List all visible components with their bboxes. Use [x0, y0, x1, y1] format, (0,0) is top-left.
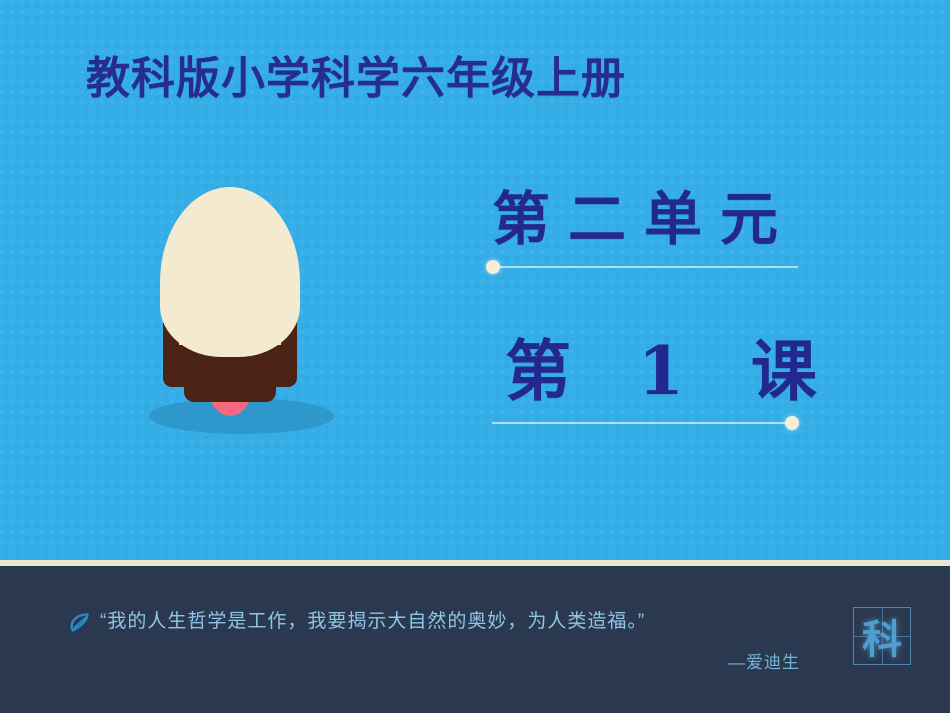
unit-rule-dot: [486, 260, 500, 274]
quote-text: “我的人生哲学是工作，我要揭示大自然的奥妙，为人类造福。”: [100, 608, 800, 636]
leaf-icon: [66, 610, 92, 636]
lesson-rule-dot: [785, 416, 799, 430]
presentation-slide: 教科版小学科学六年级上册 第二单元 第 1 课 “我的人生哲学是工作，我要揭示大…: [0, 0, 950, 713]
unit-heading: 第二单元: [492, 172, 796, 256]
brand-logo: 科: [853, 607, 911, 665]
lesson-heading: 第 1 课: [505, 318, 839, 414]
light-bulb-illustration: [135, 170, 350, 445]
lesson-heading-rule: [492, 422, 798, 424]
unit-heading-rule: [492, 266, 798, 268]
bulb-glass: [160, 187, 300, 357]
page-title: 教科版小学科学六年级上册: [86, 42, 626, 106]
footer-band: [0, 566, 950, 713]
brand-logo-character: 科: [854, 608, 910, 664]
quote-attribution: —爱迪生: [420, 648, 800, 673]
